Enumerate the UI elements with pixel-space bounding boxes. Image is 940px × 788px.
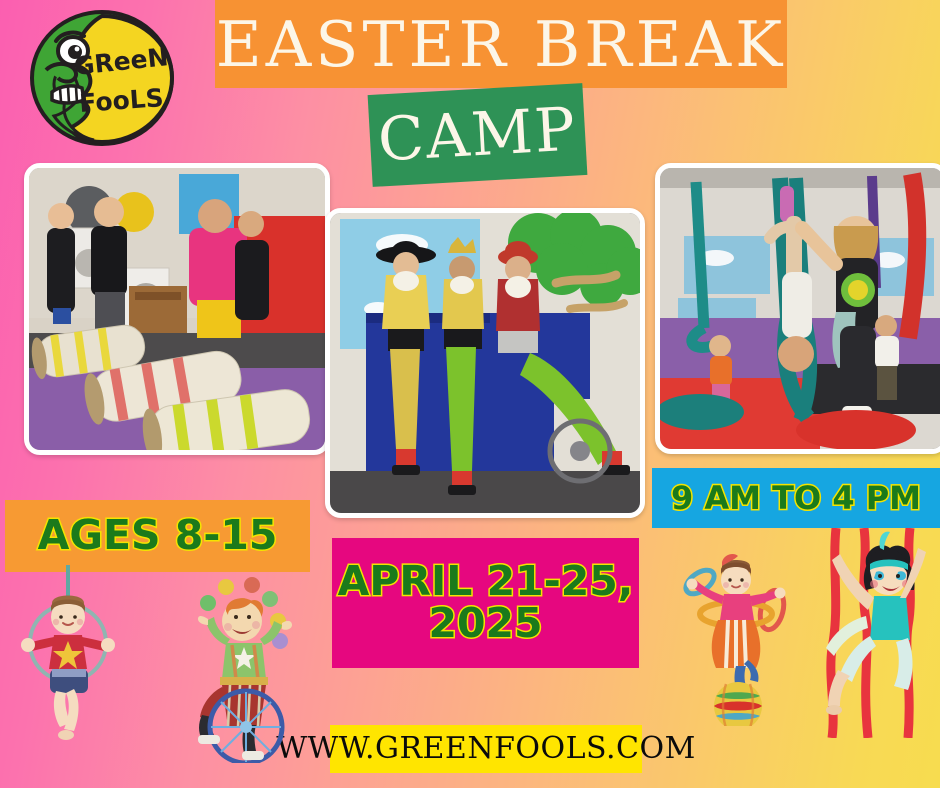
unicycle-juggler-icon bbox=[186, 575, 306, 763]
poster-canvas: GReeN FooLS EASTER BREAK CAMP bbox=[0, 0, 940, 788]
photo-aerial-silks-image bbox=[660, 168, 940, 449]
photo-stilt-walkers-image bbox=[330, 213, 640, 513]
photo-balance-barrels bbox=[24, 163, 330, 455]
green-fools-logo[interactable]: GReeN FooLS bbox=[26, 8, 178, 148]
aerial-hoop-performer-icon bbox=[8, 565, 128, 740]
time-info-block: 9 AM TO 4 PM bbox=[652, 468, 940, 528]
ages-label: AGES 8-15 bbox=[38, 515, 278, 557]
photo-stilt-walkers bbox=[325, 208, 645, 518]
ages-info-block: AGES 8-15 bbox=[5, 500, 310, 572]
page-subtitle: CAMP bbox=[368, 83, 588, 187]
hula-hoop-on-ball-icon bbox=[678, 548, 796, 726]
website-url-label: WWW.GREENFOOLS.COM bbox=[276, 734, 696, 765]
green-fools-logo-icon: GReeN FooLS bbox=[26, 8, 178, 148]
title-banner-easter-break: EASTER BREAK bbox=[215, 0, 787, 88]
time-label: 9 AM TO 4 PM bbox=[671, 482, 921, 515]
aerial-silks-performer-icon bbox=[822, 528, 940, 738]
photo-balance-barrels-image bbox=[29, 168, 325, 450]
logo-text-line2: FooLS bbox=[78, 83, 164, 118]
website-info-block[interactable]: WWW.GREENFOOLS.COM bbox=[330, 725, 642, 773]
page-title: EASTER BREAK bbox=[215, 0, 787, 88]
dates-label: APRIL 21-25, 2025 bbox=[338, 561, 634, 645]
dates-info-block: APRIL 21-25, 2025 bbox=[332, 538, 639, 668]
title-banner-camp: CAMP bbox=[368, 83, 588, 187]
photo-aerial-silks bbox=[655, 163, 940, 454]
